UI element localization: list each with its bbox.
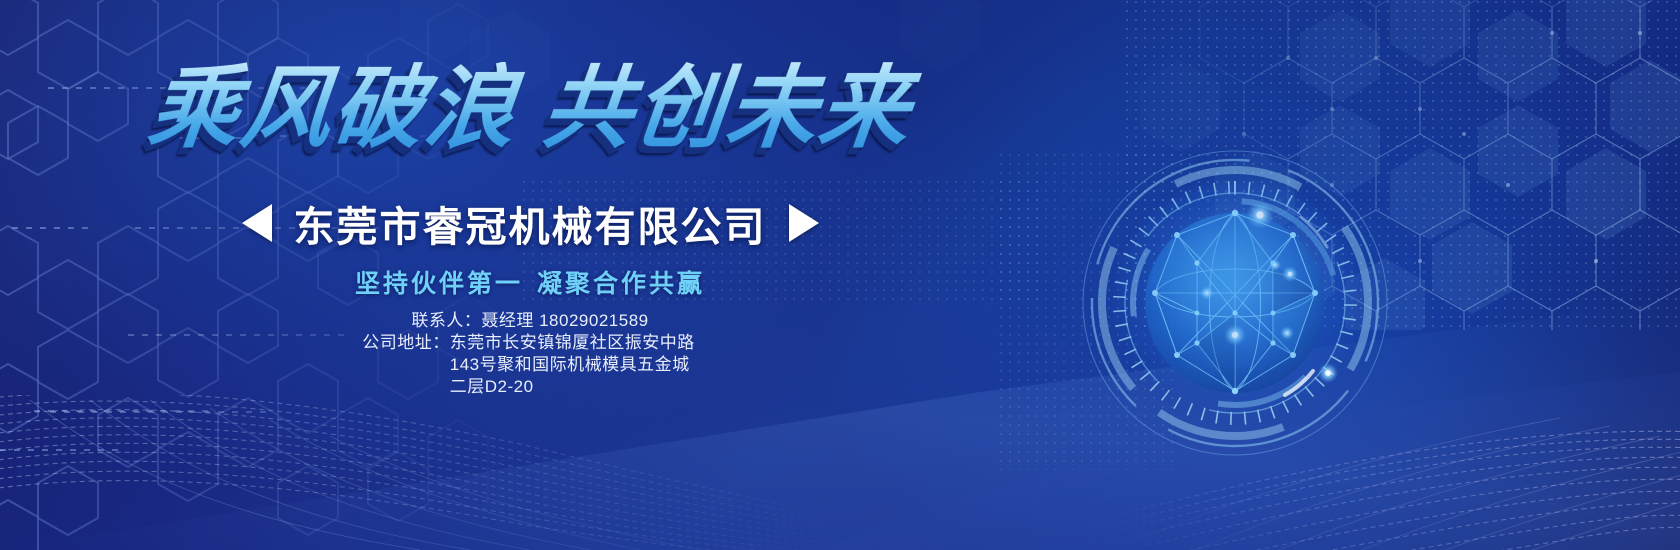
main-title-part2: 共创未来 (538, 59, 917, 159)
promo-banner: 乘风破浪共创未来 东莞市睿冠机械有限公司 坚持伙伴第一凝聚合作共赢 联系人： 聂… (0, 0, 1680, 550)
triangle-right-icon (789, 204, 819, 242)
network-globe (1075, 143, 1395, 463)
slogan-part2: 凝聚合作共赢 (537, 270, 705, 298)
slogan-part1: 坚持伙伴第一 (355, 270, 523, 298)
contact-person-line: 联系人： 聂经理 18029021589 (0, 310, 1060, 332)
main-title: 乘风破浪共创未来 (0, 62, 1065, 157)
globe-glow (1115, 181, 1360, 426)
company-address-line: 公司地址： 东莞市长安镇锦厦社区振安中路143号聚和国际机械模具五金城二层D2-… (0, 332, 1060, 398)
banner-content: 乘风破浪共创未来 东莞市睿冠机械有限公司 坚持伙伴第一凝聚合作共赢 联系人： 聂… (0, 0, 1060, 550)
company-name-row: 东莞市睿冠机械有限公司 (0, 193, 1060, 253)
contact-person-value: 聂经理 18029021589 (481, 310, 648, 332)
company-address-value: 东莞市长安镇锦厦社区振安中路143号聚和国际机械模具五金城二层D2-20 (450, 332, 698, 398)
contact-block: 联系人： 聂经理 18029021589 公司地址： 东莞市长安镇锦厦社区振安中… (0, 310, 1060, 398)
company-name: 东莞市睿冠机械有限公司 (294, 193, 767, 253)
company-address-label: 公司地址： (362, 332, 450, 398)
contact-person-label: 联系人： (411, 310, 481, 332)
triangle-left-icon (242, 204, 272, 242)
slogan: 坚持伙伴第一凝聚合作共赢 (0, 264, 1060, 300)
main-title-part1: 乘风破浪 (144, 59, 523, 159)
